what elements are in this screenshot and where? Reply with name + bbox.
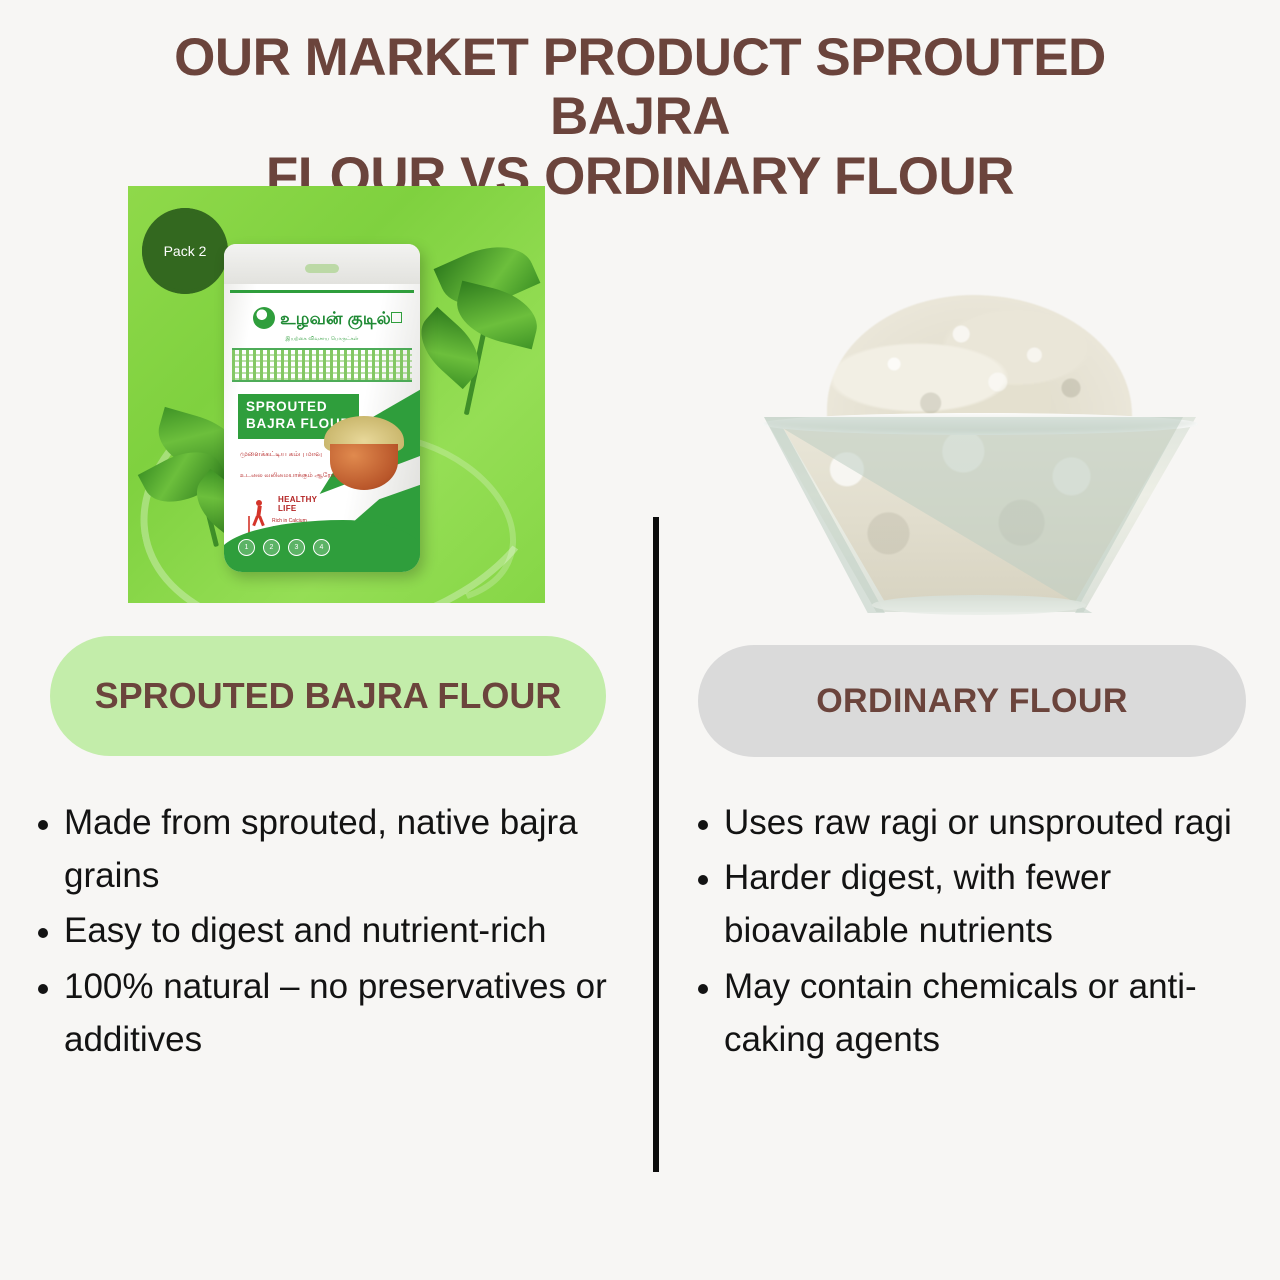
certification-icon: 2 [263,539,280,556]
bowl-base [872,595,1086,615]
certification-icon: 4 [313,539,330,556]
list-item: May contain chemicals or anti-caking age… [682,960,1280,1066]
list-item: Made from sprouted, native bajra grains [22,796,636,902]
pouch-lace-pattern [232,348,412,382]
sprouted-bajra-flour-label: SPROUTED BAJRA FLOUR [50,636,606,756]
certification-icon: 1 [238,539,255,556]
brand-name-tamil: உழவன் குடில் [280,310,391,327]
sprouted-bajra-product-photo: Pack 2 உழவன் குடில் இயற்கை விவசாய பொருட்… [128,186,545,603]
pouch-certification-row: 1 2 3 4 [238,539,330,556]
healthy-life-line-2: LIFE [278,505,317,514]
healthy-life-label: HEALTHY LIFE [278,496,317,514]
column-divider [653,517,659,1172]
sprouted-bajra-bullet-list: Made from sprouted, native bajra grains … [22,796,636,1068]
pouch-hang-hole [305,264,339,273]
brand-logo-icon [253,307,275,329]
certification-icon: 3 [288,539,305,556]
list-item: Harder digest, with fewer bioavailable n… [682,851,1280,957]
pouch-brand-band [230,290,414,293]
list-item: 100% natural – no preservatives or addit… [22,960,636,1066]
product-pouch: உழவன் குடில் இயற்கை விவசாய பொருட்கள் SPR… [224,244,420,572]
pouch-product-name-tamil: முளைக்கட்டிய கம்பு மாவு [240,450,322,459]
page-title: OUR MARKET PRODUCT SPROUTED BAJRA FLOUR … [80,28,1200,206]
brand-tagline-tamil: இயற்கை விவசாய பொருட்கள் [224,336,420,342]
pack-2-badge: Pack 2 [146,212,224,290]
pouch-clay-pot [330,444,398,490]
pouch-bowl-image [322,414,406,490]
list-item: Uses raw ragi or unsprouted ragi [682,796,1280,849]
veg-mark-icon [391,312,402,323]
ordinary-flour-bullet-list: Uses raw ragi or unsprouted ragi Harder … [682,796,1280,1068]
ordinary-flour-photo [732,295,1232,615]
title-line-1: OUR MARKET PRODUCT SPROUTED BAJRA [80,28,1200,147]
list-item: Easy to digest and nutrient-rich [22,904,636,957]
ordinary-flour-label: ORDINARY FLOUR [698,645,1246,757]
